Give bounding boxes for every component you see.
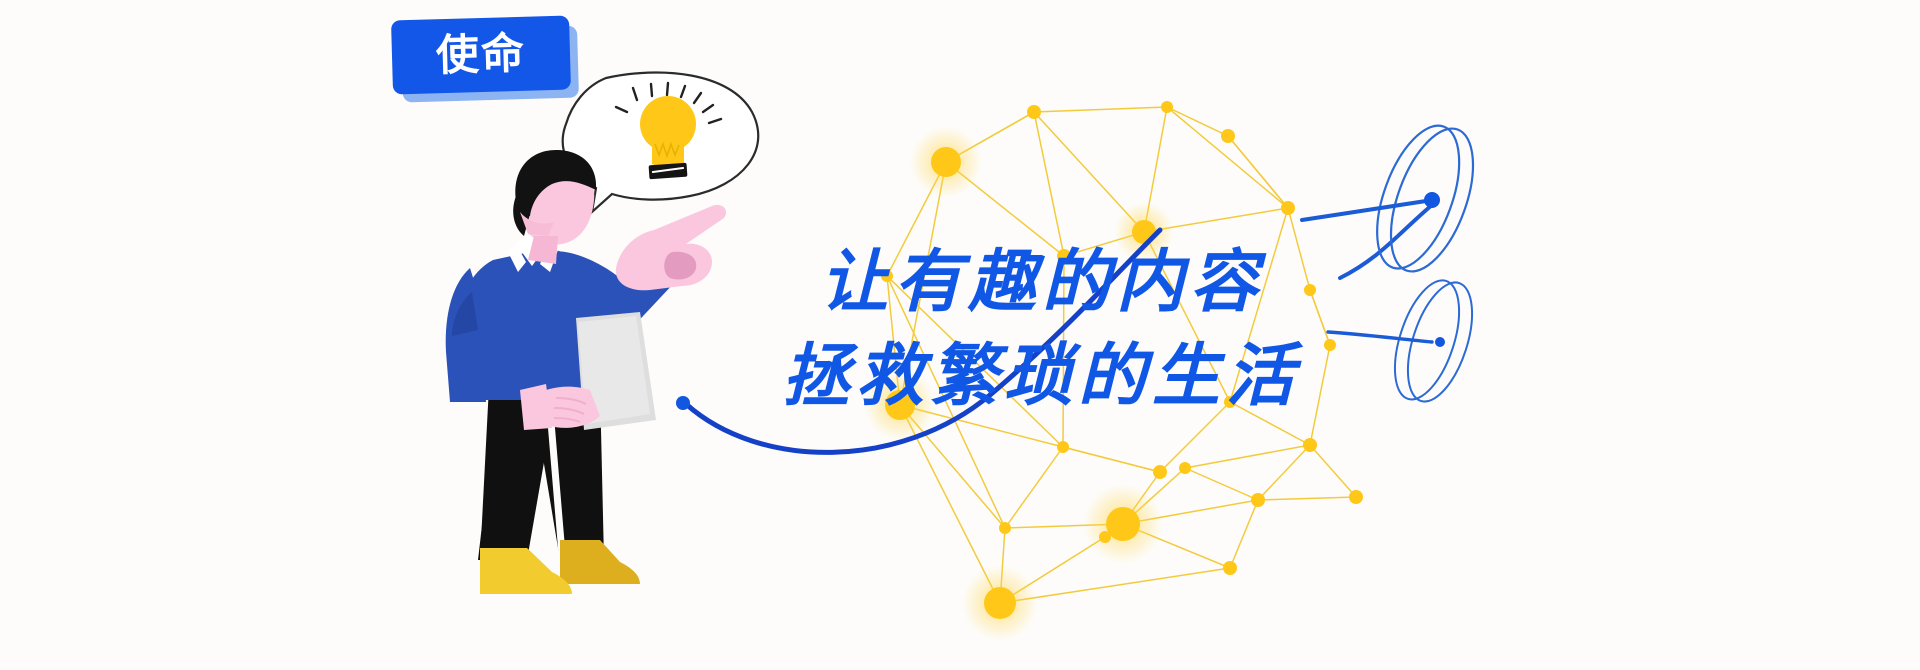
character-shoes	[480, 540, 640, 594]
character-pointing-hand	[616, 205, 726, 290]
mission-badge[interactable]: 使命	[392, 12, 582, 106]
mission-badge-label: 使命	[435, 32, 526, 77]
lightbulb-glass	[640, 96, 696, 152]
headline-line-2: 拯救繁琐的生活	[782, 330, 1580, 424]
headline-line-1: 让有趣的内容	[820, 236, 1580, 330]
headline: 让有趣的内容 拯救繁琐的生活	[820, 236, 1580, 424]
mission-banner: 使命 让有趣的内容 拯救繁琐的生活	[0, 0, 1920, 670]
mission-badge-card[interactable]: 使命	[391, 16, 571, 95]
character-left-hand	[520, 384, 600, 430]
